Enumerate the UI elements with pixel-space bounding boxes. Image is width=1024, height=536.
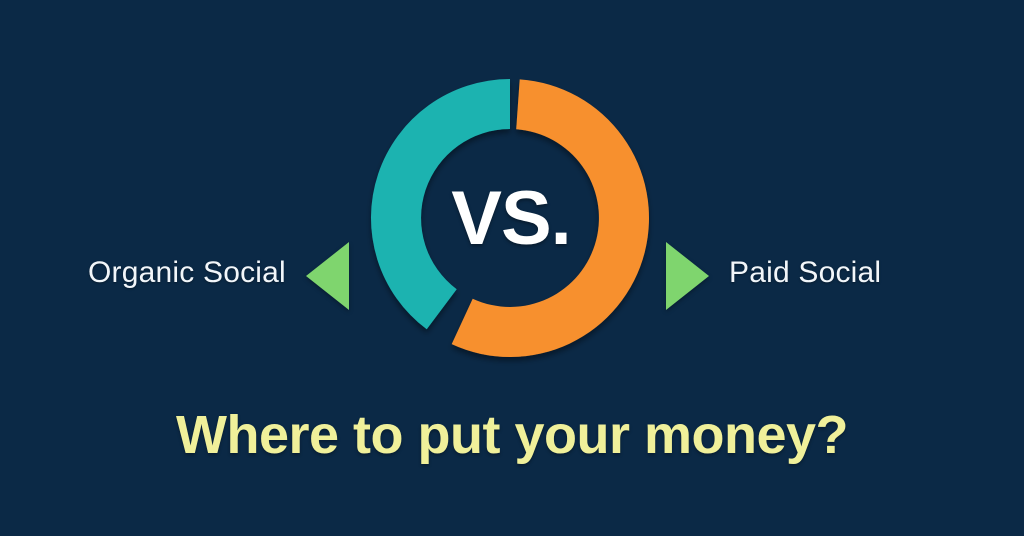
arrow-left-icon	[306, 242, 349, 310]
infographic-canvas: Organic Social VS. Paid Social Where to …	[0, 0, 1024, 536]
comparison-row: Organic Social VS. Paid Social	[0, 60, 1024, 375]
arrow-right-icon	[666, 242, 709, 310]
organic-social-label: Organic Social	[88, 256, 286, 290]
headline-text: Where to put your money?	[0, 404, 1024, 466]
versus-label: VS.	[360, 68, 660, 368]
paid-social-label: Paid Social	[729, 256, 881, 290]
